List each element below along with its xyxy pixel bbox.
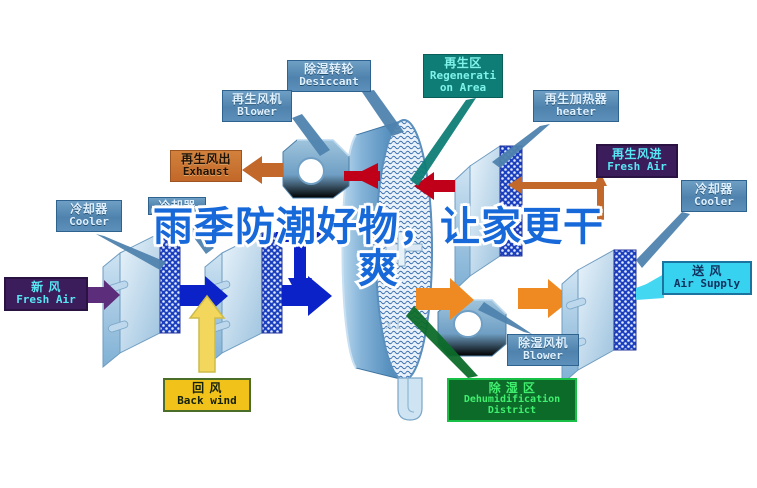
label-dehumidification-blower-en: Blower (513, 350, 573, 362)
label-back-wind-cn: 回 风 (170, 382, 244, 395)
label-regeneration-area[interactable]: 再生区 Regenerati on Area (423, 54, 503, 98)
regeneration-heater-unit (455, 146, 522, 290)
label-regeneration-fresh-air-en: Fresh Air (603, 161, 671, 173)
label-regeneration-fresh-air[interactable]: 再生风进 Fresh Air (596, 144, 678, 178)
label-air-supply[interactable]: 送 风 Air Supply (662, 261, 752, 295)
label-fresh-air-left-en: Fresh Air (11, 294, 81, 306)
label-cooler-left[interactable]: 冷却器 Cooler (56, 200, 122, 232)
air-supply-arrow (636, 274, 664, 300)
label-regeneration-heater[interactable]: 再生加热器 heater (533, 90, 619, 122)
label-regeneration-blower[interactable]: 再生风机 Blower (222, 90, 292, 122)
label-regeneration-blower-cn: 再生风机 (228, 93, 286, 106)
label-cooler-right[interactable]: 冷却器 Cooler (681, 180, 747, 212)
condensate-tray (398, 378, 422, 420)
label-cooler-left-en: Cooler (62, 216, 116, 228)
regen-intake-up-arrow (594, 172, 607, 226)
label-fresh-air-left[interactable]: 新 风 Fresh Air (4, 277, 88, 311)
label-regeneration-heater-cn: 再生加热器 (539, 93, 613, 106)
dehumidifier-schematic (0, 0, 757, 488)
desiccant-rotor-unit (343, 120, 433, 380)
label-dehumidification-blower[interactable]: 除湿风机 Blower (507, 334, 579, 366)
label-cooler-left-cn: 冷却器 (62, 203, 116, 216)
label-cooler-right-en: Cooler (687, 196, 741, 208)
label-desiccant-rotor[interactable]: 除湿转轮 Desiccant (287, 60, 371, 92)
label-cooler-mid-cn: 冷却器 (154, 200, 200, 213)
label-regeneration-blower-en: Blower (228, 106, 286, 118)
exhaust-arrow (242, 156, 283, 184)
label-back-wind-en: Back wind (170, 395, 244, 407)
label-regeneration-fresh-air-cn: 再生风进 (603, 148, 671, 161)
label-regeneration-exhaust-en: Exhaust (176, 166, 236, 178)
label-cooler-right-cn: 冷却器 (687, 183, 741, 196)
label-air-supply-en: Air Supply (669, 278, 745, 290)
label-dehumidification-district-en: Dehumidification District (454, 395, 570, 417)
label-regeneration-area-en: Regenerati on Area (429, 70, 497, 94)
label-cooler-mid[interactable]: 冷却器 (148, 197, 206, 215)
label-regeneration-exhaust[interactable]: 再生风出 Exhaust (170, 150, 242, 182)
diagram-canvas: 除湿转轮 Desiccant 再生风机 Blower 再生风出 Exhaust … (0, 0, 757, 488)
label-dehumidification-blower-cn: 除湿风机 (513, 337, 573, 350)
label-dehumidification-district-cn: 除 湿 区 (454, 382, 570, 395)
label-back-wind[interactable]: 回 风 Back wind (163, 378, 251, 412)
watermark-text: x1 (385, 318, 403, 333)
label-regeneration-area-cn: 再生区 (429, 57, 497, 70)
label-regeneration-heater-en: heater (539, 106, 613, 118)
label-desiccant-rotor-cn: 除湿转轮 (293, 63, 365, 76)
label-dehumidification-district[interactable]: 除 湿 区 Dehumidification District (447, 378, 577, 422)
label-air-supply-cn: 送 风 (669, 265, 745, 278)
label-regeneration-exhaust-cn: 再生风出 (176, 153, 236, 166)
label-fresh-air-left-cn: 新 风 (11, 281, 81, 294)
label-desiccant-rotor-en: Desiccant (293, 76, 365, 88)
